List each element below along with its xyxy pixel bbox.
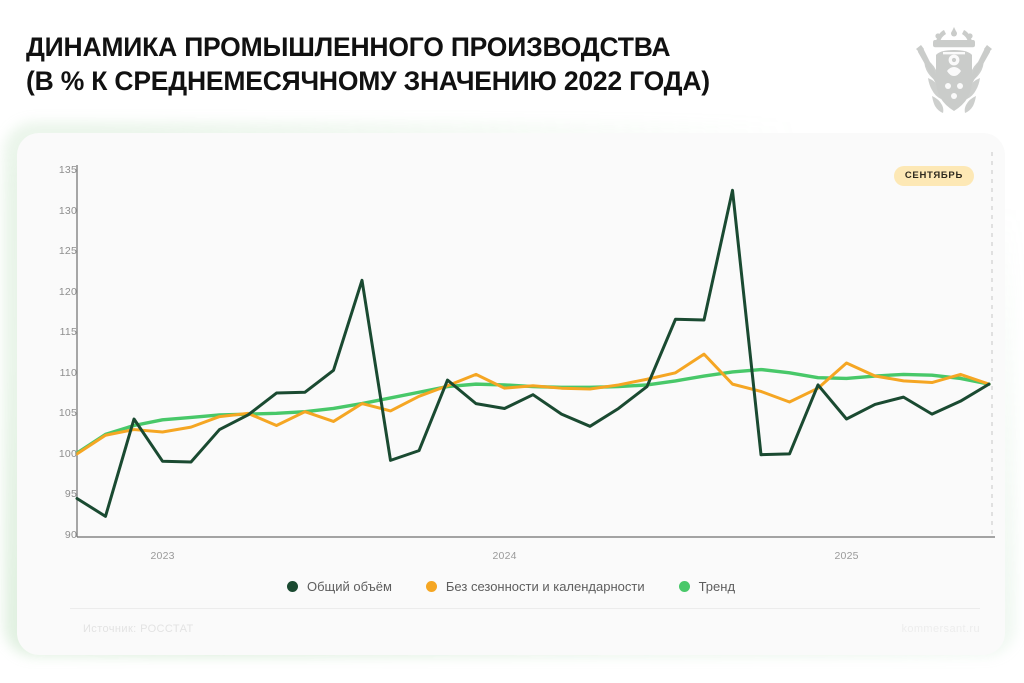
y-tick-label: 110 [43, 368, 77, 379]
series-line-2 [77, 354, 989, 454]
y-tick-label: 90 [43, 530, 77, 541]
footer-divider [70, 608, 980, 609]
chart-legend: Общий объёмБез сезонности и календарност… [17, 580, 1005, 593]
series-line-1 [77, 190, 989, 516]
legend-label: Тренд [699, 580, 735, 593]
site-watermark: kommersant.ru [901, 624, 980, 635]
y-tick-label: 125 [43, 246, 77, 257]
legend-item-2[interactable]: Без сезонности и календарности [426, 580, 645, 593]
x-tick-label: 2024 [493, 551, 517, 562]
x-tick-label: 2025 [835, 551, 859, 562]
x-tick-label: 2023 [151, 551, 175, 562]
y-tick-label: 115 [43, 327, 77, 338]
legend-item-3[interactable]: Тренд [679, 580, 735, 593]
chart-series-group [77, 190, 989, 516]
plot-area: 9095100105110115120125130135 20232024202… [17, 133, 1005, 655]
infographic-page: ДИНАМИКА ПРОМЫШЛЕННОГО ПРОИЗВОДСТВА (В %… [0, 0, 1024, 683]
y-tick-label: 105 [43, 408, 77, 419]
header: ДИНАМИКА ПРОМЫШЛЕННОГО ПРОИЗВОДСТВА (В %… [26, 30, 896, 99]
dot-icon [287, 581, 298, 592]
page-title: ДИНАМИКА ПРОМЫШЛЕННОГО ПРОИЗВОДСТВА (В %… [26, 30, 896, 99]
y-tick-label: 120 [43, 287, 77, 298]
source-note: Источник: РОССТАТ [83, 624, 194, 635]
kommersant-crest-emblem [902, 22, 1006, 120]
y-tick-label: 135 [43, 165, 77, 176]
legend-label: Без сезонности и календарности [446, 580, 645, 593]
y-tick-label: 130 [43, 206, 77, 217]
legend-item-1[interactable]: Общий объём [287, 580, 392, 593]
dot-icon [679, 581, 690, 592]
chart-card: СЕНТЯБРЬ 9095100105110115120125130135 20… [17, 133, 1005, 655]
series-line-3 [77, 370, 989, 454]
chart-axes [77, 165, 995, 537]
y-tick-label: 100 [43, 449, 77, 460]
legend-label: Общий объём [307, 580, 392, 593]
y-tick-label: 95 [43, 489, 77, 500]
y-axis-ticks: 9095100105110115120125130135 [37, 133, 77, 655]
chart-svg [17, 133, 1005, 655]
dot-icon [426, 581, 437, 592]
